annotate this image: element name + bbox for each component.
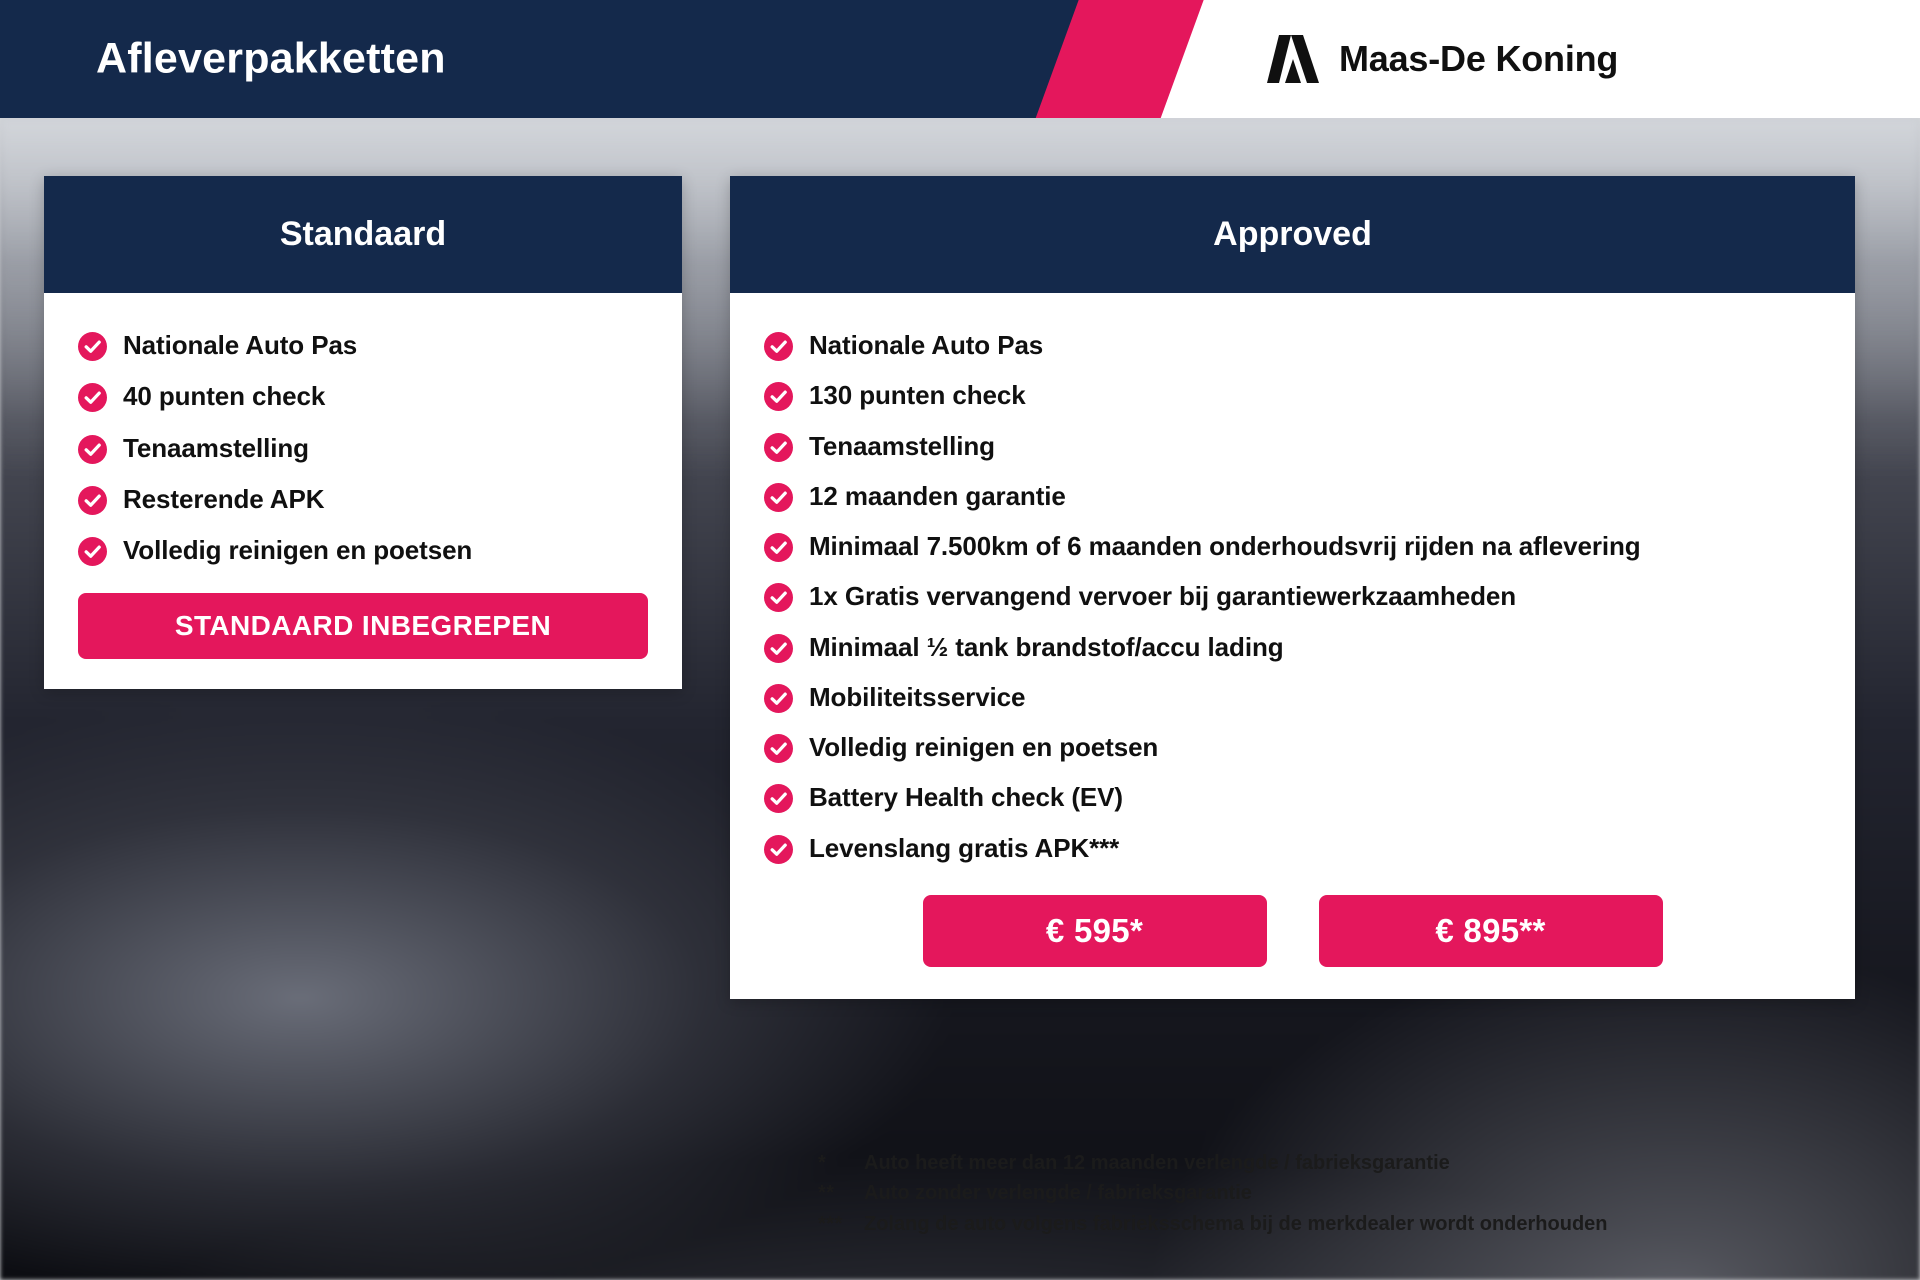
check-circle-icon [764, 332, 793, 361]
price-button-895[interactable]: € 895** [1319, 895, 1663, 967]
footnote-row: * Auto heeft meer dan 12 maanden verleng… [818, 1148, 1878, 1178]
check-circle-icon [78, 486, 107, 515]
package-card-approved: Approved Nationale Auto Pas 130 punten c [730, 176, 1855, 999]
header-bar: Afleverpakketten Maas-De Koning [0, 0, 1920, 118]
card-body-standaard: Nationale Auto Pas 40 punten check Tenaa… [44, 293, 682, 689]
list-item: Resterende APK [78, 483, 648, 516]
feature-label: Levenslang gratis APK*** [809, 832, 1119, 865]
card-body-approved: Nationale Auto Pas 130 punten check Tena… [730, 293, 1855, 999]
list-item: Minimaal 7.500km of 6 maanden onderhouds… [764, 530, 1821, 563]
feature-label: Minimaal 7.500km of 6 maanden onderhouds… [809, 530, 1641, 563]
list-item: Nationale Auto Pas [764, 329, 1821, 362]
list-item: Volledig reinigen en poetsen [764, 731, 1821, 764]
price-button-595[interactable]: € 595* [923, 895, 1267, 967]
feature-label: 12 maanden garantie [809, 480, 1066, 513]
check-circle-icon [78, 537, 107, 566]
card-title-standaard: Standaard [280, 215, 446, 254]
list-item: 130 punten check [764, 379, 1821, 412]
footnote-text: Zolang de auto volgens fabrieksschema bi… [864, 1209, 1878, 1239]
check-circle-icon [764, 835, 793, 864]
maas-de-koning-m-mark-icon [1265, 33, 1321, 85]
list-item: Nationale Auto Pas [78, 329, 648, 362]
check-circle-icon [764, 483, 793, 512]
feature-label: Volledig reinigen en poetsen [809, 731, 1158, 764]
check-circle-icon [764, 734, 793, 763]
feature-label: Nationale Auto Pas [123, 329, 357, 362]
check-circle-icon [78, 332, 107, 361]
card-header-approved: Approved [730, 176, 1855, 293]
footnote-row: *** Zolang de auto volgens fabrieksschem… [818, 1209, 1878, 1239]
list-item: 12 maanden garantie [764, 480, 1821, 513]
feature-label: 130 punten check [809, 379, 1026, 412]
feature-list-approved: Nationale Auto Pas 130 punten check Tena… [764, 329, 1821, 865]
feature-label: Tenaamstelling [123, 432, 309, 465]
feature-label: Battery Health check (EV) [809, 781, 1123, 814]
check-circle-icon [764, 784, 793, 813]
list-item: Mobiliteitsservice [764, 681, 1821, 714]
feature-label: 1x Gratis vervangend vervoer bij garanti… [809, 580, 1516, 613]
brand-name: Maas-De Koning [1339, 38, 1618, 80]
feature-label: Tenaamstelling [809, 430, 995, 463]
list-item: 40 punten check [78, 380, 648, 413]
check-circle-icon [764, 634, 793, 663]
standaard-inbegrepen-button[interactable]: STANDAARD INBEGREPEN [78, 593, 648, 659]
feature-label: Nationale Auto Pas [809, 329, 1043, 362]
check-circle-icon [78, 435, 107, 464]
check-circle-icon [78, 383, 107, 412]
check-circle-icon [764, 533, 793, 562]
check-circle-icon [764, 684, 793, 713]
card-title-approved: Approved [1213, 215, 1372, 254]
feature-list-standaard: Nationale Auto Pas 40 punten check Tenaa… [78, 329, 648, 567]
footnote-row: ** Auto zonder verlengde / fabrieksgaran… [818, 1178, 1878, 1208]
card-header-standaard: Standaard [44, 176, 682, 293]
list-item: Minimaal ½ tank brandstof/accu lading [764, 631, 1821, 664]
price-button-row: € 595* € 895** [764, 895, 1821, 973]
footnote-marker: *** [818, 1209, 864, 1239]
check-circle-icon [764, 583, 793, 612]
slide-root: Afleverpakketten Maas-De Koning Standaar… [0, 0, 1920, 1280]
feature-label: Resterende APK [123, 483, 324, 516]
list-item: Volledig reinigen en poetsen [78, 534, 648, 567]
list-item: 1x Gratis vervangend vervoer bij garanti… [764, 580, 1821, 613]
list-item: Levenslang gratis APK*** [764, 832, 1821, 865]
footnote-text: Auto zonder verlengde / fabrieksgarantie [864, 1178, 1878, 1208]
footnote-marker: ** [818, 1178, 864, 1208]
list-item: Battery Health check (EV) [764, 781, 1821, 814]
list-item: Tenaamstelling [764, 430, 1821, 463]
page-title: Afleverpakketten [96, 35, 446, 84]
check-circle-icon [764, 382, 793, 411]
footnotes: * Auto heeft meer dan 12 maanden verleng… [818, 1148, 1878, 1239]
feature-label: 40 punten check [123, 380, 325, 413]
check-circle-icon [764, 433, 793, 462]
list-item: Tenaamstelling [78, 432, 648, 465]
footnote-text: Auto heeft meer dan 12 maanden verlengde… [864, 1148, 1878, 1178]
feature-label: Minimaal ½ tank brandstof/accu lading [809, 631, 1284, 664]
feature-label: Volledig reinigen en poetsen [123, 534, 472, 567]
brand-logo: Maas-De Koning [1265, 33, 1618, 85]
package-card-standaard: Standaard Nationale Auto Pas 40 punten c [44, 176, 682, 689]
footnote-marker: * [818, 1148, 864, 1178]
feature-label: Mobiliteitsservice [809, 681, 1025, 714]
